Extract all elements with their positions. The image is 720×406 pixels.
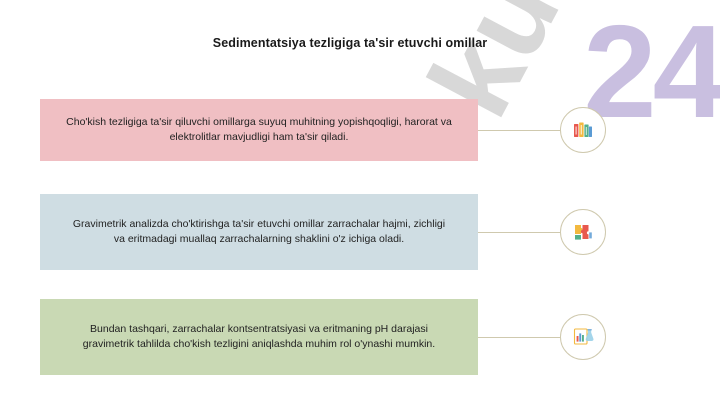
slide-title: Sedimentatsiya tezligiga ta'sir etuvchi … — [0, 36, 700, 50]
watermark-number: 24 — [583, 6, 720, 138]
content-row-text: Cho'kish tezligiga ta'sir qiluvchi omill… — [66, 115, 452, 145]
puzzle-icon — [560, 209, 606, 255]
content-row: Bundan tashqari, zarrachalar kontsentrat… — [40, 299, 478, 375]
slide-canvas: 24 kunat Sedimentatsiya tezligiga ta'sir… — [0, 0, 720, 406]
content-row-text: Gravimetrik analizda cho'ktirishga ta'si… — [66, 217, 452, 247]
books-icon — [560, 107, 606, 153]
content-row: Gravimetrik analizda cho'ktirishga ta'si… — [40, 194, 478, 270]
connector-line — [478, 232, 562, 233]
chart-flask-icon — [560, 314, 606, 360]
connector-line — [478, 130, 562, 131]
connector-line — [478, 337, 562, 338]
content-row: Cho'kish tezligiga ta'sir qiluvchi omill… — [40, 99, 478, 161]
content-row-text: Bundan tashqari, zarrachalar kontsentrat… — [66, 322, 452, 352]
